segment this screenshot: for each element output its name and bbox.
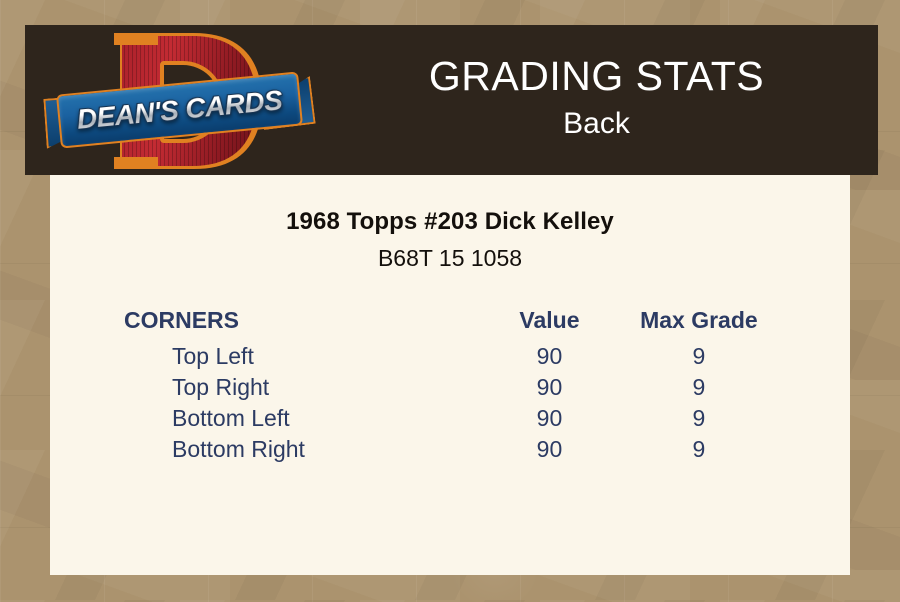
table-row: Top Left 90 9 — [120, 341, 780, 372]
logo-d-serif-top — [114, 33, 158, 45]
page-title: GRADING STATS — [429, 55, 764, 98]
row-label: Bottom Right — [120, 434, 481, 465]
logo-ribbon: DEAN'S CARDS — [40, 77, 315, 149]
content-panel: 1968 Topps #203 Dick Kelley B68T 15 1058… — [50, 175, 850, 575]
row-value: 90 — [481, 403, 618, 434]
page-subtitle: Back — [563, 104, 630, 145]
table-body: Top Left 90 9 Top Right 90 9 Bottom Left… — [120, 341, 780, 465]
column-header-value: Value — [481, 307, 618, 341]
row-value: 90 — [481, 341, 618, 372]
card-title: 1968 Topps #203 Dick Kelley — [50, 175, 850, 236]
logo-brand-text: DEAN'S CARDS — [56, 71, 303, 148]
header-bar: DEAN'S CARDS GRADING STATS Back — [25, 25, 878, 175]
header-title-group: GRADING STATS Back — [315, 25, 878, 175]
row-max-grade: 9 — [618, 341, 780, 372]
table-header-row: CORNERS Value Max Grade — [120, 307, 780, 341]
column-header-max-grade: Max Grade — [618, 307, 780, 341]
table-row: Bottom Right 90 9 — [120, 434, 780, 465]
row-max-grade: 9 — [618, 434, 780, 465]
table-row: Bottom Left 90 9 — [120, 403, 780, 434]
deans-cards-logo[interactable]: DEAN'S CARDS — [40, 25, 315, 175]
grading-stats-table: CORNERS Value Max Grade Top Left 90 9 To… — [120, 307, 780, 465]
card-code: B68T 15 1058 — [50, 236, 850, 272]
row-max-grade: 9 — [618, 403, 780, 434]
row-label: Bottom Left — [120, 403, 481, 434]
logo-d-serif-bottom — [114, 157, 158, 169]
column-header-corners: CORNERS — [120, 307, 481, 341]
table-row: Top Right 90 9 — [120, 372, 780, 403]
row-max-grade: 9 — [618, 372, 780, 403]
row-value: 90 — [481, 372, 618, 403]
row-value: 90 — [481, 434, 618, 465]
row-label: Top Left — [120, 341, 481, 372]
row-label: Top Right — [120, 372, 481, 403]
